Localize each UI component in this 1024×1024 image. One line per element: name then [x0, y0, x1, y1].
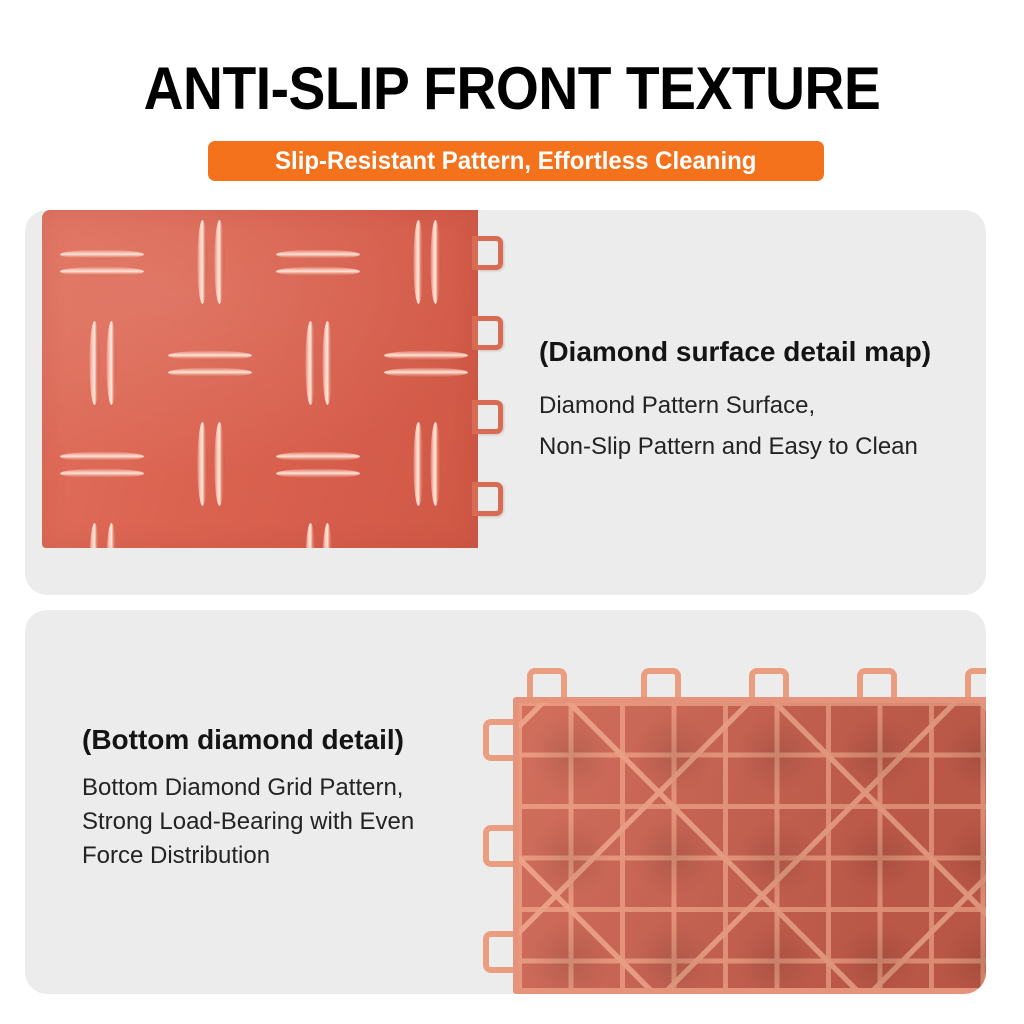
tile-top-surface-image — [42, 210, 478, 548]
diamond-plate-stud — [276, 249, 360, 260]
diamond-plate-stud — [430, 220, 441, 304]
diamond-plate-stud — [214, 220, 225, 304]
bottom-card-text-block: (Bottom diamond detail) Bottom Diamond G… — [82, 723, 502, 873]
connector-tab-left-3 — [483, 931, 513, 973]
diamond-plate-stud — [305, 523, 316, 548]
tile-underside-image — [481, 665, 986, 994]
diamond-plate-stud — [197, 220, 208, 304]
diamond-plate-stud — [413, 422, 424, 506]
top-card-heading: (Diamond surface detail map) — [539, 335, 979, 369]
diamond-plate-stud — [168, 350, 252, 361]
diamond-plate-stud — [168, 367, 252, 378]
diamond-plate-stud — [384, 350, 468, 361]
diamond-plate-stud — [305, 321, 316, 405]
diamond-plate-stud — [384, 367, 468, 378]
diamond-plate-stud — [106, 523, 117, 548]
connector-tab-top-3 — [749, 668, 789, 698]
diagonal-rib-grid — [513, 697, 986, 994]
diamond-plate-stud — [322, 321, 333, 405]
feature-card-top: (Diamond surface detail map) Diamond Pat… — [25, 210, 986, 595]
diamond-plate-stud — [89, 321, 100, 405]
tile-underside-grid — [513, 697, 986, 994]
diamond-plate-stud — [60, 266, 144, 277]
diamond-plate-stud — [60, 451, 144, 462]
diamond-plate-stud — [276, 468, 360, 479]
diamond-plate-stud — [413, 220, 424, 304]
diamond-plate-stud — [214, 422, 225, 506]
diamond-plate-stud — [89, 523, 100, 548]
diamond-plate-stud — [322, 523, 333, 548]
diamond-plate-stud — [60, 468, 144, 479]
diamond-plate-stud — [60, 249, 144, 260]
connector-tab-right-4 — [478, 482, 503, 516]
page-title: ANTI-SLIP FRONT TEXTURE — [41, 58, 983, 120]
bottom-card-body-line-1: Bottom Diamond Grid Pattern, — [82, 771, 502, 805]
diamond-plate-stud — [430, 422, 441, 506]
product-feature-page: ANTI-SLIP FRONT TEXTURE Slip-Resistant P… — [0, 0, 1024, 1024]
top-card-body-line-2: Non-Slip Pattern and Easy to Clean — [539, 426, 979, 467]
bottom-card-body-line-2: Strong Load-Bearing with Even — [82, 805, 502, 839]
connector-tab-top-1 — [527, 668, 567, 698]
top-card-body-line-1: Diamond Pattern Surface, — [539, 385, 979, 426]
connector-tab-right-3 — [478, 400, 503, 434]
subtitle-banner: Slip-Resistant Pattern, Effortless Clean… — [208, 141, 824, 181]
subtitle-text: Slip-Resistant Pattern, Effortless Clean… — [275, 148, 756, 175]
diamond-plate-stud — [276, 451, 360, 462]
connector-tab-left-1 — [483, 719, 513, 761]
diamond-plate-stud — [276, 266, 360, 277]
feature-card-bottom: (Bottom diamond detail) Bottom Diamond G… — [25, 610, 986, 994]
bottom-card-heading: (Bottom diamond detail) — [82, 723, 502, 757]
diamond-plate-stud — [197, 422, 208, 506]
diamond-plate-stud — [106, 321, 117, 405]
connector-tab-top-4 — [857, 668, 897, 698]
bottom-card-body-line-3: Force Distribution — [82, 839, 502, 873]
connector-tab-top-5 — [965, 668, 986, 698]
connector-tab-right-2 — [478, 316, 503, 350]
connector-tab-right-1 — [478, 236, 503, 270]
connector-tab-top-2 — [641, 668, 681, 698]
top-card-text-block: (Diamond surface detail map) Diamond Pat… — [539, 335, 979, 467]
connector-tab-left-2 — [483, 825, 513, 867]
